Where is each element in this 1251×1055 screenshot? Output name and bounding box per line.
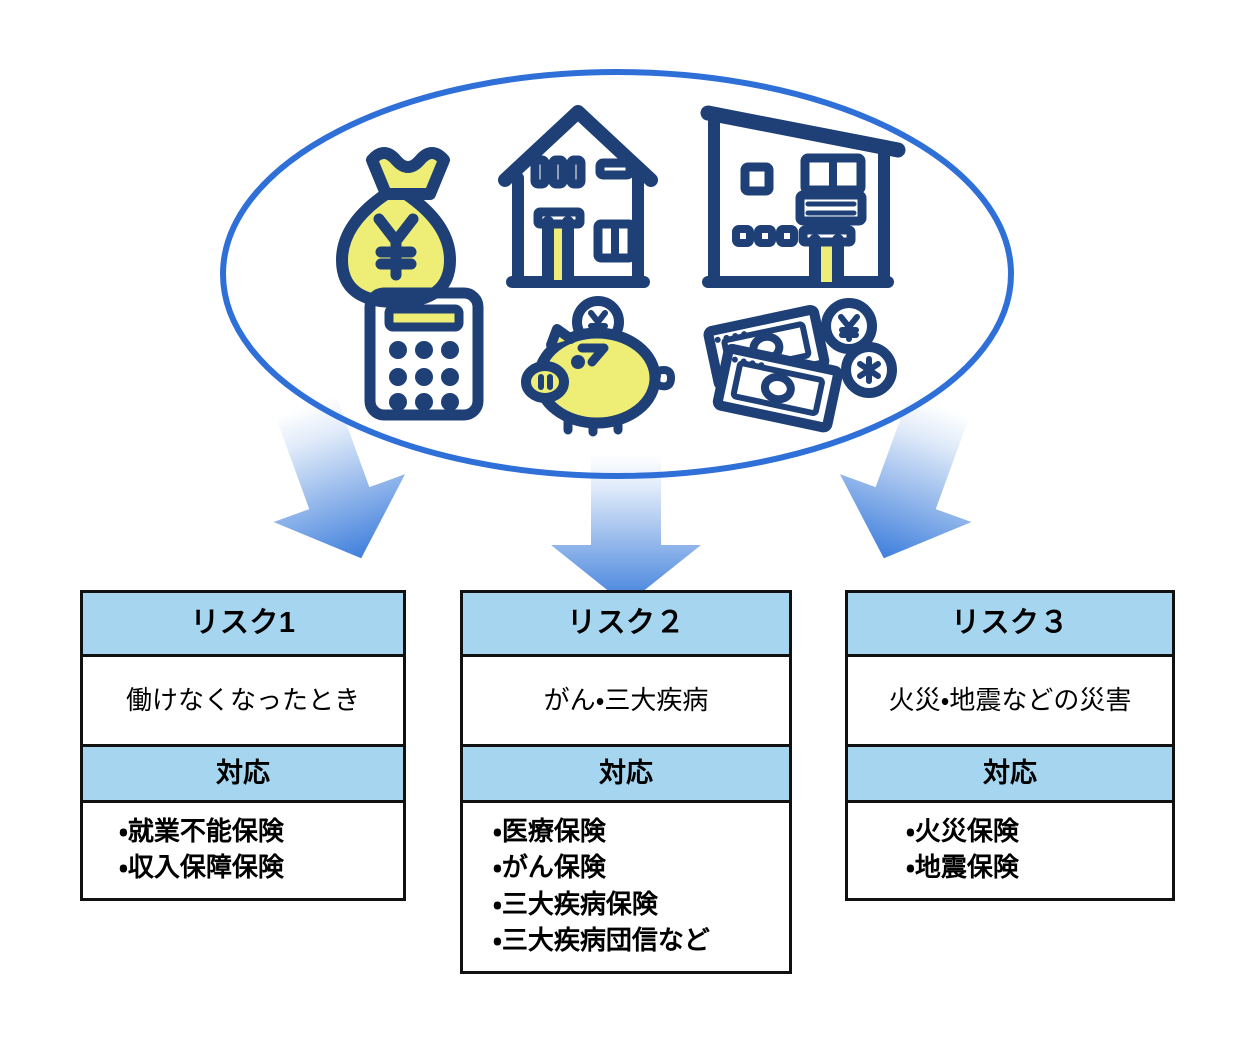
risk-column-2-response-list: ・医療保険 ・がん保険 ・三大疾病保険 ・三大疾病団信など: [463, 803, 789, 971]
risk-column-1-response-list: ・就業不能保険 ・収入保障保険: [83, 803, 403, 898]
risk-column-2: リスク２ がん・三大疾病 対応 ・医療保険 ・がん保険 ・三大疾病保険 ・三大疾…: [460, 590, 792, 974]
banknotes-and-coins-icon: [708, 303, 892, 428]
money-bag-icon: [342, 153, 450, 302]
list-item: ・就業不能保険: [83, 813, 403, 849]
detached-house-icon: [505, 112, 651, 282]
piggy-bank-icon: [526, 301, 671, 432]
list-item: ・三大疾病団信など: [463, 922, 789, 958]
risk-column-3-response-list: ・火災保険 ・地震保険: [848, 803, 1172, 898]
risk-column-1-header: リスク1: [83, 593, 403, 657]
diagram-canvas: リスク1 働けなくなったとき 対応 ・就業不能保険 ・収入保障保険 リスク２ が…: [0, 0, 1251, 1055]
risk-column-3-response-header: 対応: [848, 747, 1172, 803]
modern-house-icon: [708, 113, 898, 282]
risk-column-3: リスク３ 火災・地震などの災害 対応 ・火災保険 ・地震保険: [845, 590, 1175, 901]
list-item: ・火災保険: [848, 813, 1172, 849]
list-item: ・地震保険: [848, 849, 1172, 885]
asset-cluster-illustration: [0, 0, 1251, 600]
risk-column-2-description: がん・三大疾病: [463, 657, 789, 747]
risk-column-2-response-header: 対応: [463, 747, 789, 803]
list-item: ・医療保険: [463, 813, 789, 849]
risk-column-1-response-header: 対応: [83, 747, 403, 803]
risk-column-3-description: 火災・地震などの災害: [848, 657, 1172, 747]
risk-column-2-header: リスク２: [463, 593, 789, 657]
list-item: ・がん保険: [463, 849, 789, 885]
list-item: ・三大疾病保険: [463, 886, 789, 922]
risk-column-1-description: 働けなくなったとき: [83, 657, 403, 747]
list-item: ・収入保障保険: [83, 849, 403, 885]
risk-column-3-header: リスク３: [848, 593, 1172, 657]
calculator-icon: [370, 293, 478, 415]
risk-column-1: リスク1 働けなくなったとき 対応 ・就業不能保険 ・収入保障保険: [80, 590, 406, 901]
arrow-to-risk-3: [818, 382, 1005, 582]
